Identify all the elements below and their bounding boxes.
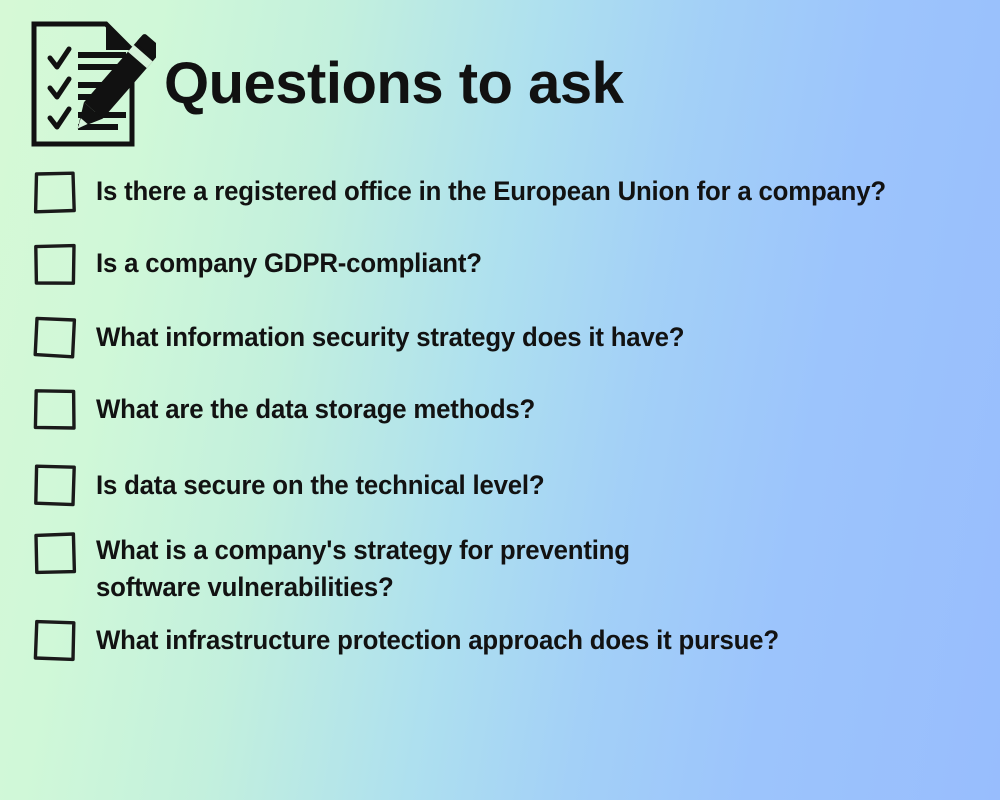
checkbox-unchecked-icon[interactable] xyxy=(32,315,78,361)
checklist-item[interactable]: What information security strategy does … xyxy=(32,315,982,361)
checkbox-unchecked-icon[interactable] xyxy=(32,242,78,288)
checklist-item[interactable]: Is a company GDPR-compliant? xyxy=(32,242,982,288)
checklist-item[interactable]: Is data secure on the technical level? xyxy=(32,463,982,509)
checklist-item-label: Is data secure on the technical level? xyxy=(96,463,544,504)
checklist-item-label: What infrastructure protection approach … xyxy=(96,618,779,659)
checkbox-unchecked-icon[interactable] xyxy=(32,387,78,433)
checklist-item-label: What information security strategy does … xyxy=(96,315,684,356)
checklist-item[interactable]: Is there a registered office in the Euro… xyxy=(32,170,982,216)
poster-canvas: Questions to ask Is there a registered o… xyxy=(0,0,1000,800)
checklist-item[interactable]: What are the data storage methods? xyxy=(32,387,982,433)
checklist-item-label: What is a company's strategy for prevent… xyxy=(96,531,630,606)
checklist-item-label: What are the data storage methods? xyxy=(96,387,535,428)
checklist-item[interactable]: What is a company's strategy for prevent… xyxy=(32,531,982,606)
checklist-item[interactable]: What infrastructure protection approach … xyxy=(32,618,982,664)
checkbox-unchecked-icon[interactable] xyxy=(32,618,78,664)
checkbox-unchecked-icon[interactable] xyxy=(32,531,78,577)
clipboard-checklist-pencil-icon xyxy=(28,18,156,150)
page-header: Questions to ask xyxy=(28,14,968,154)
checklist-item-label: Is a company GDPR-compliant? xyxy=(96,242,482,282)
page-title: Questions to ask xyxy=(164,55,623,113)
checklist-item-label: Is there a registered office in the Euro… xyxy=(96,170,886,210)
checkbox-unchecked-icon[interactable] xyxy=(32,170,78,216)
checkbox-unchecked-icon[interactable] xyxy=(32,463,78,509)
